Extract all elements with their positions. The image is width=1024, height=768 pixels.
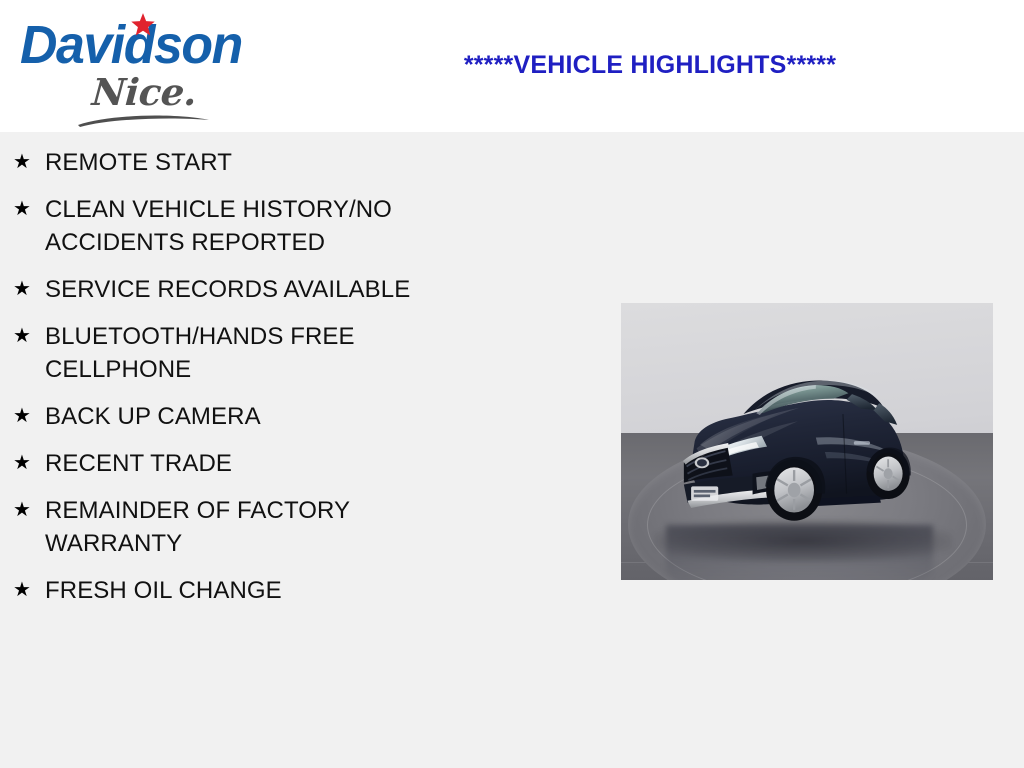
list-item: ★ REMOTE START bbox=[0, 146, 600, 179]
highlight-label: RECENT TRADE bbox=[45, 447, 485, 480]
logo-script-nice: Nice. bbox=[91, 72, 198, 112]
highlight-label: SERVICE RECORDS AVAILABLE bbox=[45, 273, 485, 306]
star-bullet-icon: ★ bbox=[13, 193, 45, 226]
list-item: ★ BLUETOOTH/HANDS FREE CELLPHONE bbox=[0, 320, 600, 386]
vehicle-highlights-list: ★ REMOTE START ★ CLEAN VEHICLE HISTORY/N… bbox=[0, 132, 600, 621]
star-bullet-icon: ★ bbox=[13, 146, 45, 179]
highlight-label: REMOTE START bbox=[45, 146, 485, 179]
highlight-label: BLUETOOTH/HANDS FREE CELLPHONE bbox=[45, 320, 485, 386]
star-bullet-icon: ★ bbox=[13, 574, 45, 607]
vehicle-illustration bbox=[647, 358, 956, 530]
list-item: ★ BACK UP CAMERA bbox=[0, 400, 600, 433]
highlight-label: BACK UP CAMERA bbox=[45, 400, 485, 433]
star-bullet-icon: ★ bbox=[13, 273, 45, 306]
list-item: ★ FRESH OIL CHANGE bbox=[0, 574, 600, 607]
star-bullet-icon: ★ bbox=[13, 320, 45, 353]
list-item: ★ RECENT TRADE bbox=[0, 447, 600, 480]
logo-swoosh-icon bbox=[76, 112, 212, 128]
star-bullet-icon: ★ bbox=[13, 494, 45, 527]
list-item: ★ CLEAN VEHICLE HISTORY/NO ACCIDENTS REP… bbox=[0, 193, 600, 259]
star-bullet-icon: ★ bbox=[13, 447, 45, 480]
highlight-label: FRESH OIL CHANGE bbox=[45, 574, 485, 607]
dealer-logo: Davidson Nice. bbox=[14, 6, 274, 126]
page-title: *****VEHICLE HIGHLIGHTS***** bbox=[300, 50, 1000, 80]
vehicle-reflection bbox=[666, 525, 934, 580]
star-bullet-icon: ★ bbox=[13, 400, 45, 433]
red-star-icon bbox=[130, 12, 156, 38]
list-item: ★ SERVICE RECORDS AVAILABLE bbox=[0, 273, 600, 306]
list-item: ★ REMAINDER OF FACTORY WARRANTY bbox=[0, 494, 600, 560]
highlight-label: CLEAN VEHICLE HISTORY/NO ACCIDENTS REPOR… bbox=[45, 193, 485, 259]
vehicle-photo bbox=[621, 303, 993, 580]
highlight-label: REMAINDER OF FACTORY WARRANTY bbox=[45, 494, 485, 560]
